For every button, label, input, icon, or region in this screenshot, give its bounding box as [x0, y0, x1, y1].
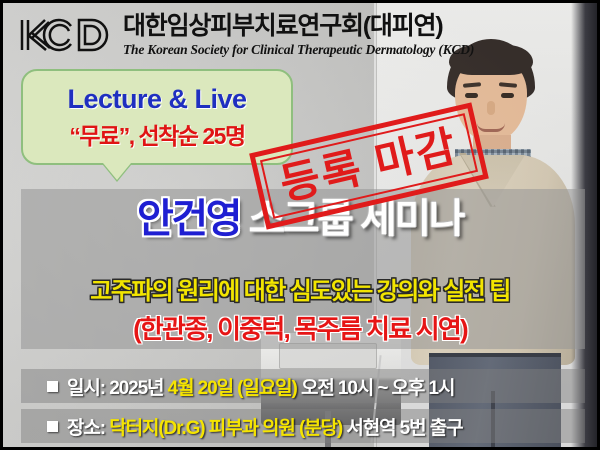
seminar-poster: 대한임상피부치료연구회(대피연) The Korean Society for …: [0, 0, 600, 450]
lecture-live-label: Lecture & Live: [67, 84, 246, 115]
date-highlight: 4월 20일 (일요일): [168, 373, 297, 400]
free-seats-label: “무료”, 선착순 25명: [69, 117, 244, 151]
date-year: 2025년: [109, 373, 163, 400]
poster-header: 대한임상피부치료연구회(대피연) The Korean Society for …: [3, 3, 597, 63]
org-titles: 대한임상피부치료연구회(대피연) The Korean Society for …: [123, 14, 474, 57]
info-row-place: 장소: 닥터지(Dr.G) 피부과 의원 (분당) 서현역 5번 출구: [21, 409, 585, 443]
place-directions: 서현역 5번 출구: [346, 413, 462, 440]
place-highlight: 닥터지(Dr.G) 피부과 의원 (분당): [109, 413, 342, 440]
subtitle-demo: (한관종, 이중턱, 목주름 치료 시연): [3, 309, 597, 346]
promo-callout: Lecture & Live “무료”, 선착순 25명: [21, 69, 293, 165]
speaker-name: 안건영: [137, 197, 240, 241]
place-label: 장소:: [67, 413, 105, 440]
org-korean-name: 대한임상피부치료연구회(대피연): [123, 14, 474, 39]
org-english-name: The Korean Society for Clinical Therapeu…: [123, 43, 474, 57]
info-row-date: 일시: 2025년 4월 20일 (일요일) 오전 10시 ~ 오후 1시: [21, 369, 585, 403]
kcd-logo-icon: [17, 15, 113, 55]
square-bullet-icon: [47, 421, 58, 432]
date-label: 일시:: [67, 373, 105, 400]
date-time: 오전 10시 ~ 오후 1시: [301, 373, 454, 400]
subtitle-topic: 고주파의 원리에 대한 심도있는 강의와 실전 팁: [3, 271, 597, 306]
callout-tail: [103, 163, 131, 180]
square-bullet-icon: [47, 381, 58, 392]
